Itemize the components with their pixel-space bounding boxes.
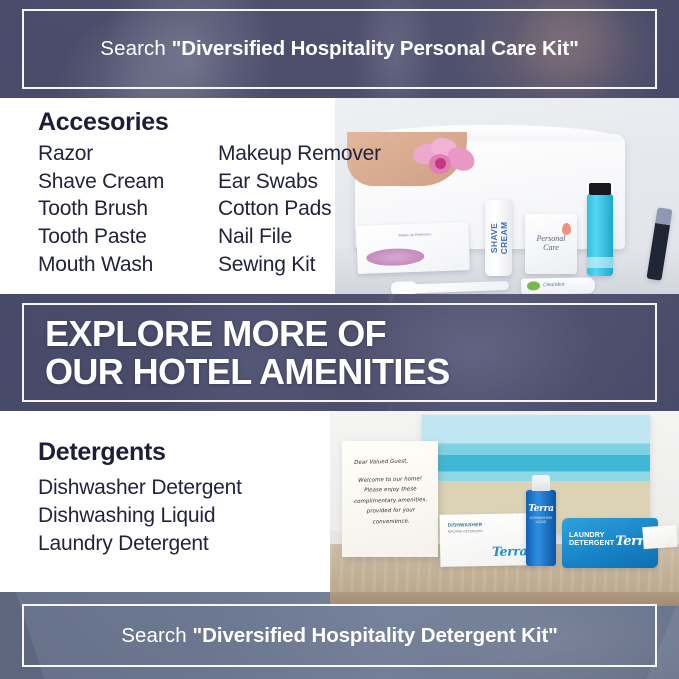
accessories-column-2: Makeup Remover Ear Swabs Cotton Pads Nai… (218, 140, 381, 279)
bottom-search-banner: Search "Diversified Hospitality Detergen… (0, 592, 679, 679)
list-item: Razor (38, 140, 218, 168)
top-banner-prefix: Search (100, 37, 171, 60)
personal-care-kit-photo: Make-up Remover SHAVE CREAM PersonalCare… (335, 98, 679, 294)
shave-cream-label: SHAVE CREAM (489, 207, 509, 269)
list-item: Makeup Remover (218, 140, 381, 168)
bottle-cap (532, 475, 550, 491)
paper-sheet (642, 525, 677, 549)
list-item: Sewing Kit (218, 251, 381, 279)
list-item: Laundry Detergent (38, 530, 242, 558)
pouch-heading: LAUNDRYDETERGENT (569, 531, 614, 548)
list-item: Tooth Paste (38, 223, 218, 251)
dishwasher-detergent-sachet: DISHWASHER MACHINE DETERGENT Terra (440, 513, 535, 567)
top-banner-text: Search "Diversified Hospitality Personal… (0, 37, 679, 61)
personal-care-soap: PersonalCare (525, 214, 577, 274)
bottle-brand-logo: Terra (526, 504, 556, 514)
accessories-list-wrap: Accesories Razor Shave Cream Tooth Brush… (0, 98, 381, 279)
orchid-flower-icon (413, 138, 479, 182)
welcome-card-text: Dear Valued Guest, Welcome to our home! … (348, 456, 433, 528)
accessories-section: Make-up Remover SHAVE CREAM PersonalCare… (0, 98, 679, 294)
detergent-kit-photo: Dear Valued Guest, Welcome to our home! … (330, 411, 679, 592)
welcome-card-body: Welcome to our home! Please enjoy these … (354, 476, 427, 525)
detergents-list-wrap: Detergents Dishwasher Detergent Dishwash… (0, 411, 242, 558)
sachet-brand-logo: Terra (492, 543, 527, 559)
bottom-banner-prefix: Search (121, 624, 192, 647)
bottom-banner-query: "Diversified Hospitality Detergent Kit" (193, 624, 558, 647)
explore-more-banner: EXPLORE MORE OF OUR HOTEL AMENITIES (0, 294, 679, 411)
packet-label: Make-up Remover (398, 232, 431, 237)
detergents-section: Dear Valued Guest, Welcome to our home! … (0, 411, 679, 592)
infographic-page: Search "Diversified Hospitality Personal… (0, 0, 679, 679)
bottle-cap (589, 183, 611, 195)
welcome-card: Dear Valued Guest, Welcome to our home! … (342, 441, 438, 557)
list-item: Shave Cream (38, 168, 218, 196)
toothpaste-label: ClearMint (543, 282, 565, 288)
accessories-columns: Razor Shave Cream Tooth Brush Tooth Past… (38, 140, 381, 279)
detergents-title: Detergents (38, 438, 242, 467)
dishwashing-liquid-bottle: Terra DISHWASHING LIQUID (526, 490, 556, 566)
top-banner-query: "Diversified Hospitality Personal Care K… (172, 37, 579, 60)
accessories-title: Accesories (38, 108, 381, 137)
top-search-banner: Search "Diversified Hospitality Personal… (0, 0, 679, 98)
bottle-heading: DISHWASHING LIQUID (526, 516, 556, 524)
bottom-banner-text: Search "Diversified Hospitality Detergen… (0, 624, 679, 648)
sachet-heading: DISHWASHER (448, 523, 483, 529)
list-item: Dishwashing Liquid (38, 502, 242, 530)
accessories-column-1: Razor Shave Cream Tooth Brush Tooth Past… (38, 140, 218, 279)
list-item: Mouth Wash (38, 251, 218, 279)
shave-cream-tube: SHAVE CREAM (485, 200, 512, 276)
headline-line-2: OUR HOTEL AMENITIES (45, 353, 679, 391)
bottle-band (587, 257, 613, 268)
list-item: Nail File (218, 223, 381, 251)
welcome-card-greeting: Dear Valued Guest, (348, 456, 431, 469)
list-item: Dishwasher Detergent (38, 474, 242, 502)
list-item: Ear Swabs (218, 168, 381, 196)
list-item: Tooth Brush (38, 195, 218, 223)
soap-label: PersonalCare (525, 234, 577, 252)
headline-line-1: EXPLORE MORE OF (45, 314, 679, 352)
middle-banner-text: EXPLORE MORE OF OUR HOTEL AMENITIES (0, 314, 679, 390)
sachet-subheading: MACHINE DETERGENT (448, 529, 483, 534)
list-item: Cotton Pads (218, 195, 381, 223)
toothpaste-tube: ClearMint (521, 277, 595, 294)
mouthwash-bottle (587, 194, 613, 276)
toothpaste-leaf-icon (527, 281, 540, 290)
